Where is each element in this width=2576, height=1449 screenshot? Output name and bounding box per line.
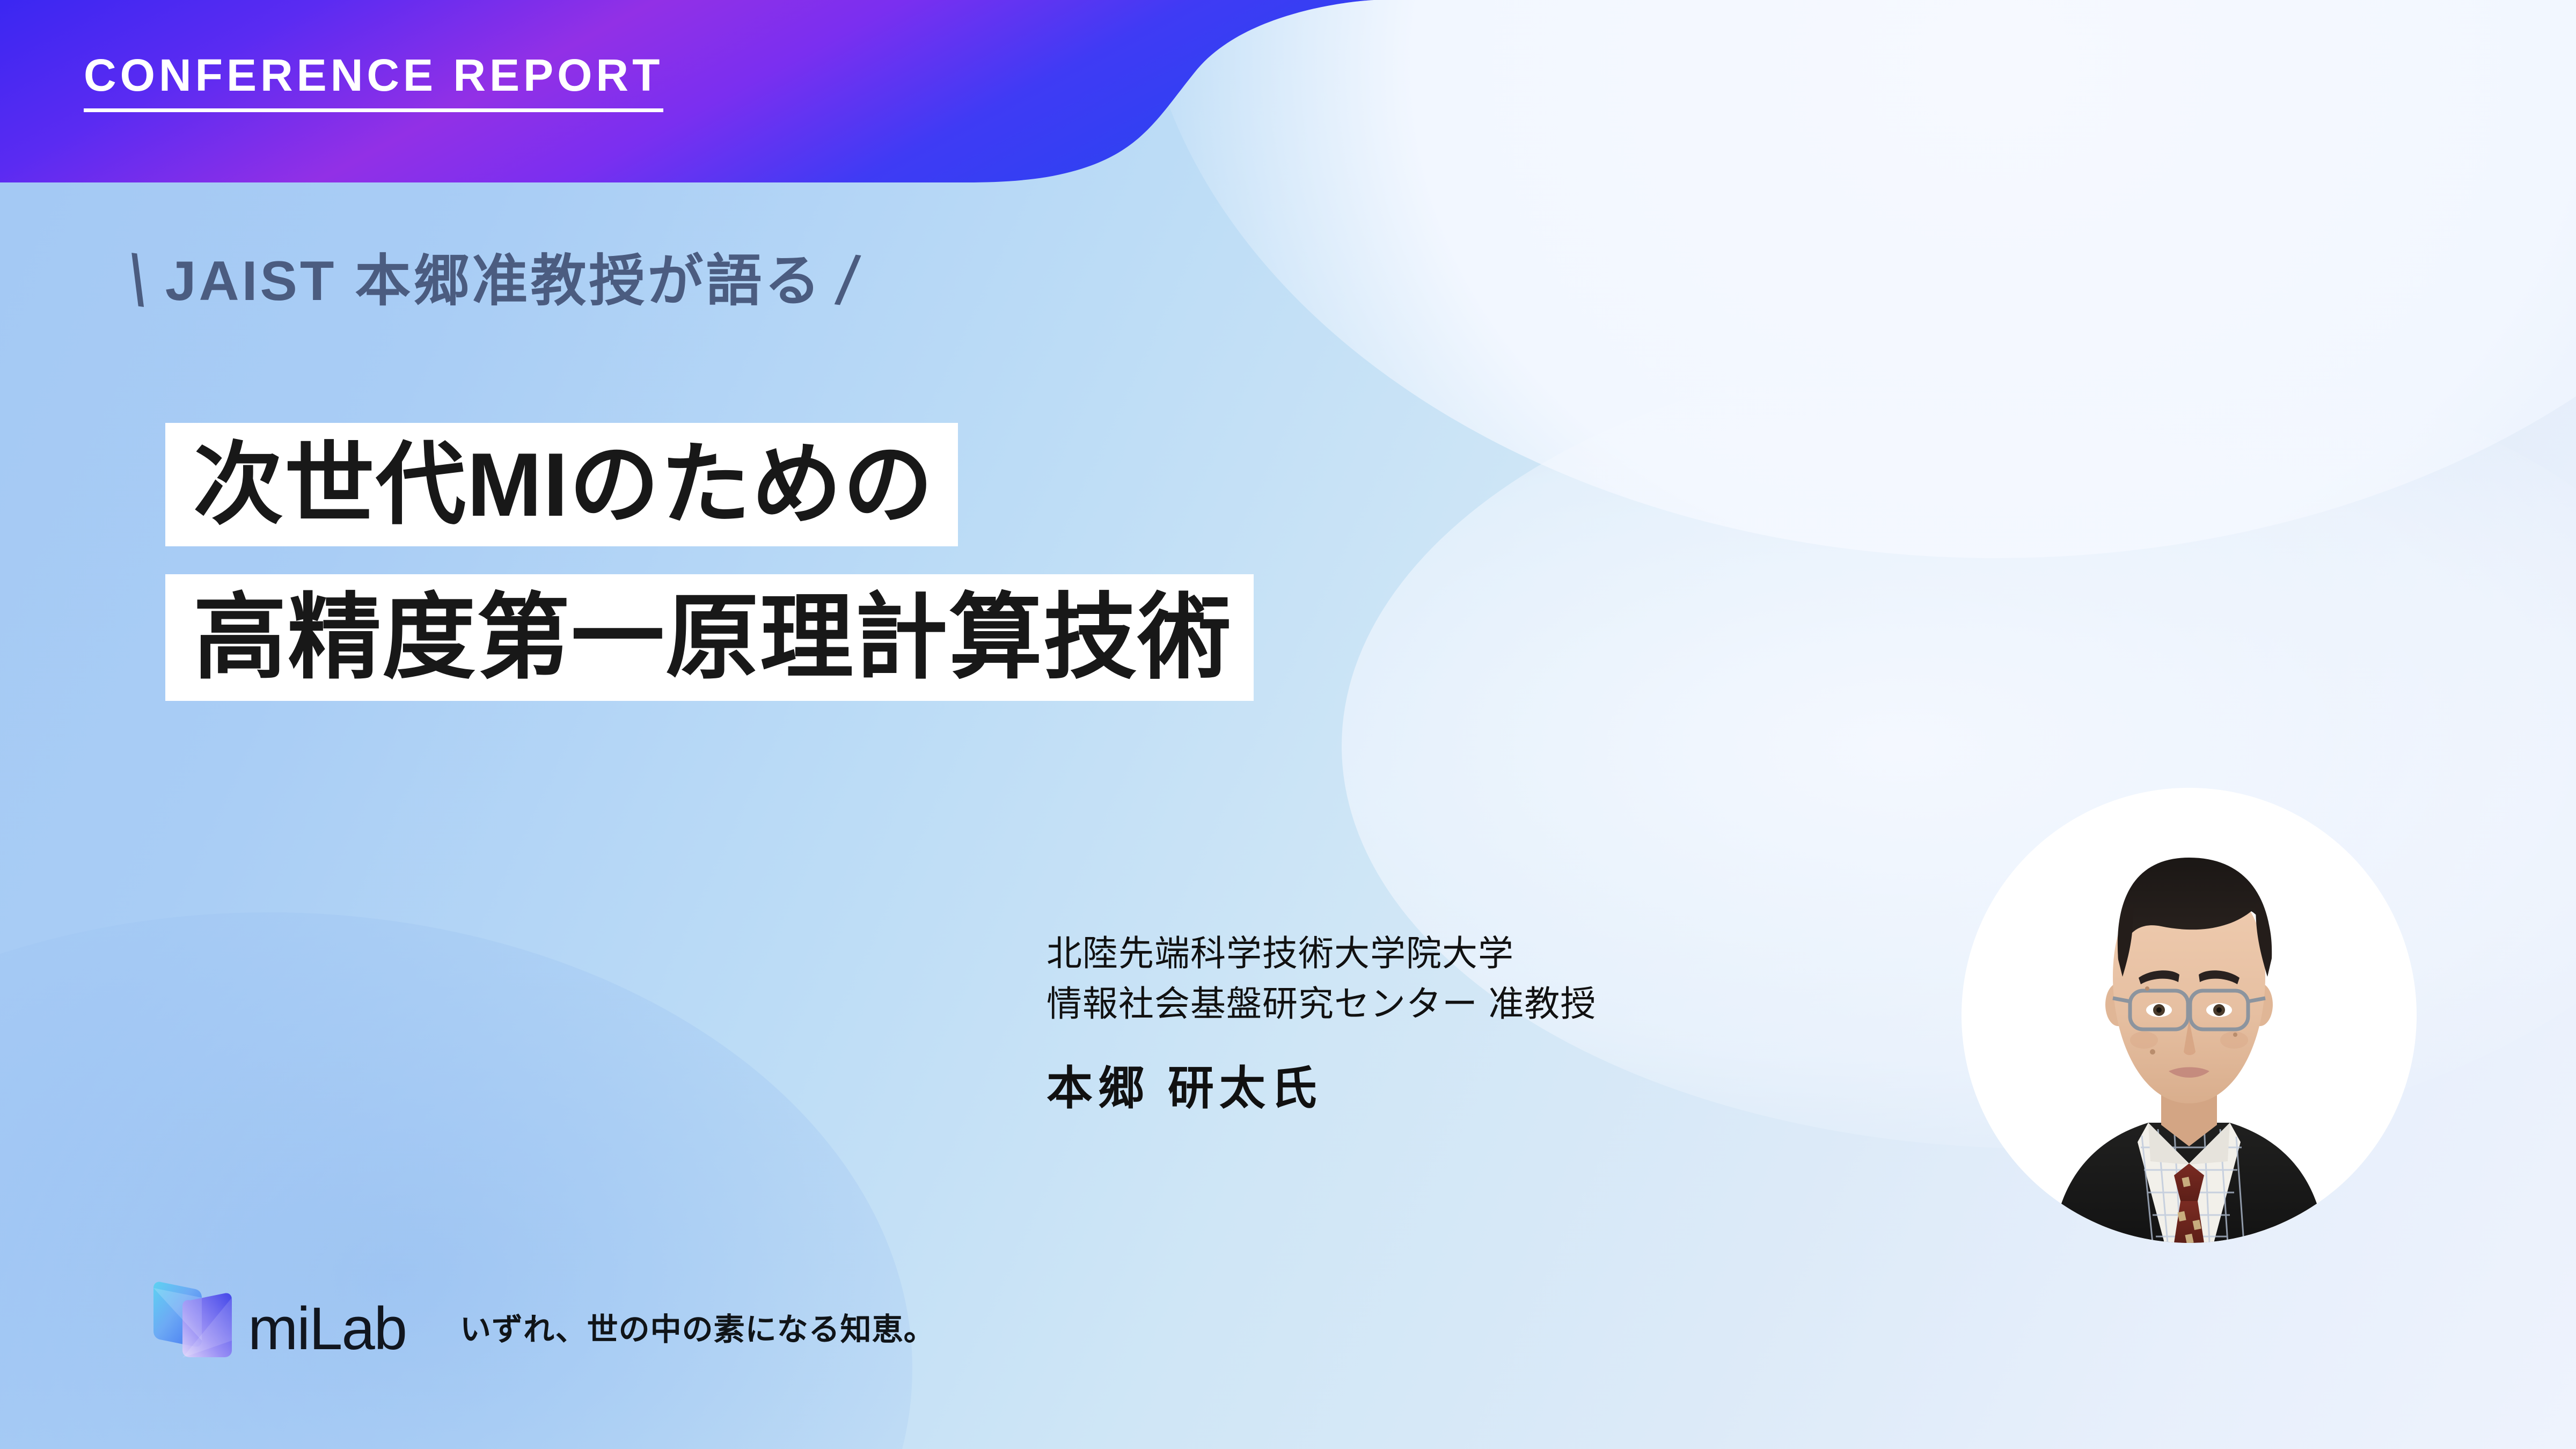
speaker-affiliation-line-2: 情報社会基盤研究センター 准教授	[1046, 979, 1927, 1029]
footer-brand: miLab いずれ、世の中の素になる知恵。	[144, 1276, 935, 1371]
portrait-photo	[1962, 788, 2417, 1243]
headline-line-2: 高精度第一原理計算技術	[165, 574, 1254, 701]
kicker-text: JAIST 本郷准教授が語る	[165, 253, 823, 309]
speaker-info: 北陸先端科学技術大学院大学 情報社会基盤研究センター 准教授 本郷 研太氏	[1046, 928, 1927, 1117]
slash-right-icon: /	[833, 245, 865, 318]
headline-line-1: 次世代MIのための	[165, 423, 958, 546]
slash-left-icon: \	[123, 245, 155, 318]
brand-tagline: いずれ、世の中の素になる知恵。	[460, 1314, 935, 1345]
speaker-affiliation-line-1: 北陸先端科学技術大学院大学	[1046, 928, 1927, 979]
banner-label: CONFERENCE REPORT	[84, 53, 663, 112]
speaker-name: 本郷 研太氏	[1046, 1050, 1927, 1117]
kicker-line: \ JAIST 本郷准教授が語る /	[128, 246, 860, 317]
milab-logo[interactable]: miLab	[144, 1276, 406, 1371]
conference-report-banner: CONFERENCE REPORT	[0, 0, 1374, 182]
speaker-portrait	[1962, 788, 2417, 1243]
milab-double-chevron-mark	[144, 1276, 245, 1371]
milab-wordmark: miLab	[248, 1299, 406, 1359]
slide-canvas: CONFERENCE REPORT \ JAIST 本郷准教授が語る / 次世代…	[0, 0, 2576, 1449]
